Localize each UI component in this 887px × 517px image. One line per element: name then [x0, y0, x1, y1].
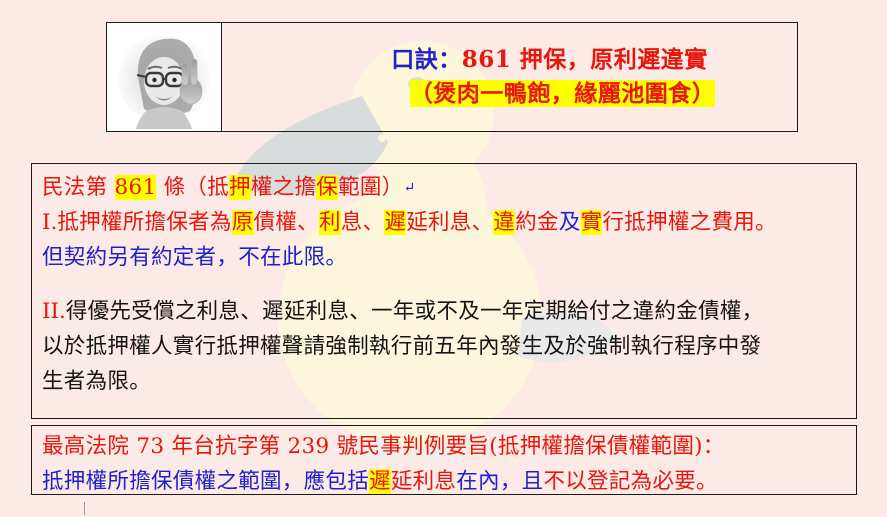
- precedent-red-2: 不以登記為必要。: [543, 469, 717, 494]
- statute-box: 民法第 861 條（抵押權之擔保範圍）↵ I.抵押權所擔保者為原債權、利息、遲延…: [31, 163, 857, 419]
- p1-blue-1: 及: [559, 210, 581, 235]
- precedent-line-2: 抵押權所擔保債權之範圍，應包括遲延利息在內，且不以登記為必要。: [42, 465, 846, 500]
- mnemonic-line-2-text: （煲肉一鴨飽，緣麗池圍食）: [410, 80, 716, 107]
- statute-paragraph-1-line-1: I.抵押權所擔保者為原債權、利息、遲延利息、違約金及實行抵押權之費用。: [42, 206, 846, 241]
- paragraph-2-roman: II.: [42, 299, 66, 324]
- precedent-box: 最高法院 73 年台抗字第 239 號民事判例要旨(抵押權擔保債權範圍)： 抵押…: [31, 425, 857, 495]
- precedent-blue-2: 在內，且: [456, 469, 543, 494]
- statute-blank-line: [42, 275, 846, 295]
- paragraph-1-roman: I.: [42, 210, 57, 235]
- p1-part-1: 抵押權所擔保者為: [57, 210, 231, 235]
- p1-part-5: 約金: [515, 210, 559, 235]
- heading-part-1: 民法第: [42, 175, 115, 200]
- mnemonic-line-2: （煲肉一鴨飽，緣麗池圍食）: [384, 77, 716, 111]
- precedent-line-1: 最高法院 73 年台抗字第 239 號民事判例要旨(抵押權擔保債權範圍)：: [42, 430, 846, 465]
- p1-line-2-text: 但契約另有約定者，不在此限。: [42, 245, 347, 270]
- p1-highlight-4: 違: [493, 210, 515, 235]
- mnemonic-text-cell: 口訣：861 押保，原利遲違實 （煲肉一鴨飽，緣麗池圍食）: [222, 23, 797, 131]
- statute-heading: 民法第 861 條（抵押權之擔保範圍）↵: [42, 171, 846, 206]
- statute-paragraph-2-line-2: 以於抵押權人實行抵押權聲請強制執行前五年內發生及於強制執行程序中發: [42, 330, 846, 365]
- p2-line-1-text: 得優先受償之利息、遲延利息、一年或不及一年定期給付之違約金債權，: [66, 299, 764, 324]
- p1-part-2: 債權、: [254, 210, 319, 235]
- mnemonic-label: 口訣：: [391, 46, 462, 73]
- p1-part-4: 延利息、: [406, 210, 493, 235]
- p1-highlight-5: 實: [581, 210, 603, 235]
- heading-highlight-2: 保: [316, 175, 338, 200]
- heading-part-4: 範圍）: [338, 175, 403, 200]
- precedent-citation: 最高法院 73 年台抗字第 239 號民事判例要旨(抵押權擔保債權範圍)：: [42, 434, 725, 459]
- heading-part-3: 權之擔: [251, 175, 316, 200]
- precedent-red-1: 延利息: [391, 469, 456, 494]
- avatar-cell: [107, 23, 222, 131]
- avatar-sketch-image: [108, 25, 220, 129]
- precedent-blue-1: 抵押權所擔保債權之範圍，應包括: [42, 469, 369, 494]
- mnemonic-body: 861 押保，原利遲違實: [462, 46, 708, 73]
- mnemonic-box: 口訣：861 押保，原利遲違實 （煲肉一鴨飽，緣麗池圍食）: [106, 22, 798, 132]
- p1-highlight-1: 原: [232, 210, 254, 235]
- mnemonic-line-1: 口訣：861 押保，原利遲違實: [391, 43, 708, 77]
- heading-part-2: 條（抵: [156, 175, 229, 200]
- precedent-highlight-1: 遲: [369, 469, 391, 494]
- statute-paragraph-1-line-2: 但契約另有約定者，不在此限。: [42, 241, 846, 276]
- p2-line-3-text: 生者為限。: [42, 369, 151, 394]
- p1-highlight-2: 利: [319, 210, 341, 235]
- text-cursor: [84, 502, 85, 515]
- statute-paragraph-2-line-1: II.得優先受償之利息、遲延利息、一年或不及一年定期給付之違約金債權，: [42, 295, 846, 330]
- statute-paragraph-2-line-3: 生者為限。: [42, 365, 846, 400]
- p2-line-2-text: 以於抵押權人實行抵押權聲請強制執行前五年內發生及於強制執行程序中發: [42, 334, 761, 359]
- p1-part-3: 息、: [341, 210, 385, 235]
- paragraph-mark-icon: ↵: [403, 180, 415, 196]
- heading-highlight-1: 押: [229, 175, 251, 200]
- p1-part-6: 行抵押權之費用。: [602, 210, 776, 235]
- p1-highlight-3: 遲: [384, 210, 406, 235]
- heading-article-number: 861: [115, 175, 157, 200]
